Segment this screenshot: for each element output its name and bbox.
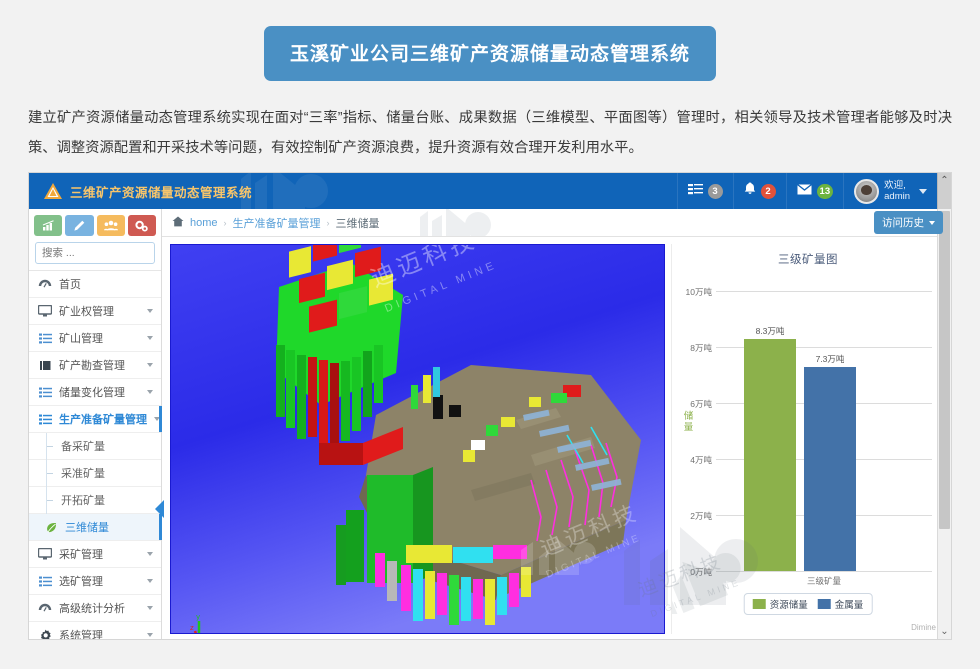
scroll-up-button[interactable]: ⌃ xyxy=(937,173,951,209)
sidebar-subitem-label: 备采矿量 xyxy=(61,438,105,454)
chart-plot-area: 10万吨 8万吨 6万吨 4万吨 2万吨 0万吨 储量 xyxy=(672,271,944,601)
avatar xyxy=(854,179,879,204)
sidebar-item-mine-management[interactable]: 矿山管理 xyxy=(29,325,161,352)
app-topbar: 三维矿产资源储量动态管理系统 xyxy=(29,173,951,209)
watermark-icon xyxy=(412,209,502,237)
sidebar-search xyxy=(29,240,161,270)
sidebar-submenu: 备采矿量 采准矿量 开拓矿量 三维储量 xyxy=(29,433,161,541)
chart-watermark: Dimine xyxy=(911,623,936,632)
breadcrumb-current: 三维储量 xyxy=(336,215,380,231)
app-body: 首页 矿业权管理 矿山管理 xyxy=(29,209,951,640)
list-icon xyxy=(38,412,52,426)
vertical-scrollbar[interactable]: ⌄ xyxy=(937,209,951,639)
sidebar-item-label: 系统管理 xyxy=(59,627,140,640)
gear-icon xyxy=(38,628,52,640)
sidebar-item-label: 选矿管理 xyxy=(59,573,140,589)
user-greeting: 欢迎, xyxy=(884,180,910,191)
page-description: 建立矿产资源储量动态管理系统实现在面对“三率”指标、储量台账、成果数据（三维模型… xyxy=(28,103,952,163)
y-tick-label: 10万吨 xyxy=(672,286,712,298)
sidebar: 首页 矿业权管理 矿山管理 xyxy=(29,209,162,640)
main-content: home › 生产准备矿量管理 › 三维储量 访问历史 xyxy=(162,209,951,640)
y-tick-label: 8万吨 xyxy=(672,342,712,354)
sidebar-item-reserve-change[interactable]: 储量变化管理 xyxy=(29,379,161,406)
sidebar-item-production-reserve[interactable]: 生产准备矿量管理 xyxy=(29,406,161,433)
scrollbar-thumb[interactable] xyxy=(939,211,950,529)
active-item-pointer-icon xyxy=(155,500,164,518)
chevron-down-icon xyxy=(147,606,153,610)
sidebar-item-label: 采矿管理 xyxy=(59,546,140,562)
sidebar-item-mining[interactable]: 采矿管理 xyxy=(29,541,161,568)
y-tick-label: 0万吨 xyxy=(672,566,712,578)
bar-value-label: 7.3万吨 xyxy=(795,353,865,365)
sidebar-item-label: 高级统计分析 xyxy=(59,600,140,616)
monitor-icon xyxy=(38,547,52,561)
legend-swatch-icon xyxy=(818,599,831,609)
monitor-icon xyxy=(38,304,52,318)
search-input[interactable] xyxy=(35,242,155,264)
logo-icon xyxy=(43,182,63,200)
sidebar-menu: 首页 矿业权管理 矿山管理 xyxy=(29,270,161,640)
sidebar-subitem-beicai[interactable]: 备采矿量 xyxy=(29,433,161,460)
y-tick-label: 2万吨 xyxy=(672,510,712,522)
dashboard-icon xyxy=(38,277,52,291)
application-window: 三维矿产资源储量动态管理系统 xyxy=(28,172,952,640)
page-header: 玉溪矿业公司三维矿产资源储量动态管理系统 xyxy=(0,0,980,81)
edit-button[interactable] xyxy=(65,215,93,236)
sidebar-subitem-label: 开拓矿量 xyxy=(61,492,105,508)
notifications-badge: 2 xyxy=(761,184,776,199)
sidebar-item-advanced-statistics[interactable]: 高级统计分析 xyxy=(29,595,161,622)
dash-icon xyxy=(46,446,53,447)
brand[interactable]: 三维矿产资源储量动态管理系统 xyxy=(29,182,252,201)
bar-value-label: 8.3万吨 xyxy=(735,325,805,337)
tasks-badge: 3 xyxy=(708,184,723,199)
legend-item-metal-quantity[interactable]: 金属量 xyxy=(818,597,864,611)
list-icon xyxy=(38,574,52,588)
sidebar-item-exploration[interactable]: 矿产勘查管理 xyxy=(29,352,161,379)
chevron-down-icon xyxy=(147,390,153,394)
breadcrumb-separator: › xyxy=(224,218,227,228)
three-d-model-viewport[interactable]: 迪迈科技 DIGITAL MINE 迪迈科技 DIGITAL MINE y x … xyxy=(170,244,665,634)
sidebar-item-label: 矿业权管理 xyxy=(59,303,140,319)
legend-label: 金属量 xyxy=(835,597,864,611)
notifications-menu[interactable]: 2 xyxy=(733,173,786,209)
sidebar-item-beneficiation[interactable]: 选矿管理 xyxy=(29,568,161,595)
content-panes: 迪迈科技 DIGITAL MINE 迪迈科技 DIGITAL MINE y x … xyxy=(162,237,951,640)
bell-icon xyxy=(744,182,756,200)
dashboard-icon xyxy=(38,601,52,615)
x-axis-label: 三级矿量 xyxy=(716,575,932,587)
dash-icon xyxy=(46,473,53,474)
breadcrumb-home[interactable]: home xyxy=(190,217,218,229)
breadcrumb-separator: › xyxy=(327,218,330,228)
sidebar-item-label: 储量变化管理 xyxy=(59,384,140,400)
user-name: admin xyxy=(884,191,910,202)
tasks-icon xyxy=(688,182,703,200)
dash-icon xyxy=(46,500,53,501)
chevron-down-icon xyxy=(154,417,160,421)
legend-item-resource-reserve[interactable]: 资源储量 xyxy=(753,597,808,611)
legend-swatch-icon xyxy=(753,599,766,609)
chevron-down-icon xyxy=(147,579,153,583)
leaf-icon xyxy=(46,522,57,533)
tasks-menu[interactable]: 3 xyxy=(677,173,733,209)
messages-menu[interactable]: 13 xyxy=(786,173,844,209)
chevron-down-icon xyxy=(147,336,153,340)
breadcrumb-parent[interactable]: 生产准备矿量管理 xyxy=(233,215,321,231)
chart-legend: 资源储量 金属量 xyxy=(744,593,873,615)
messages-badge: 13 xyxy=(817,184,834,199)
sidebar-subitem-3d-reserve[interactable]: 三维储量 xyxy=(29,514,161,541)
envelope-icon xyxy=(797,182,812,200)
y-tick-label: 4万吨 xyxy=(672,454,712,466)
visit-history-label: 访问历史 xyxy=(882,215,924,230)
sidebar-subitem-caizhun[interactable]: 采准矿量 xyxy=(29,460,161,487)
reserve-chart-panel: 三级矿量图 10万吨 8万吨 6万吨 4万吨 2万吨 xyxy=(671,244,944,634)
bar-metal-quantity[interactable] xyxy=(804,367,856,571)
topbar-actions: 3 2 13 xyxy=(677,173,951,209)
sidebar-item-label: 矿山管理 xyxy=(59,330,140,346)
sidebar-item-home[interactable]: 首页 xyxy=(29,271,161,298)
legend-label: 资源储量 xyxy=(770,597,808,611)
sidebar-item-system[interactable]: 系统管理 xyxy=(29,622,161,640)
chevron-down-icon xyxy=(147,309,153,313)
chevron-down-icon xyxy=(929,221,935,225)
sidebar-quick-actions xyxy=(29,209,161,240)
settings-button[interactable] xyxy=(128,215,156,236)
chevron-down-icon xyxy=(147,552,153,556)
sidebar-item-label: 首页 xyxy=(59,276,153,292)
chart-title: 三级矿量图 xyxy=(672,244,944,267)
visit-history-button[interactable]: 访问历史 xyxy=(874,211,943,234)
chevron-down-icon xyxy=(919,189,927,194)
sidebar-subitem-kaituo[interactable]: 开拓矿量 xyxy=(29,487,161,514)
scroll-down-button[interactable]: ⌄ xyxy=(938,624,951,639)
list-icon xyxy=(38,385,52,399)
y-axis-label: 储量 xyxy=(682,411,696,433)
user-menu[interactable]: 欢迎, admin xyxy=(843,173,937,209)
chevron-down-icon xyxy=(147,363,153,367)
book-icon xyxy=(38,358,52,372)
brand-title: 三维矿产资源储量动态管理系统 xyxy=(70,182,252,201)
breadcrumb: home › 生产准备矿量管理 › 三维储量 xyxy=(172,215,380,231)
svg-text:y: y xyxy=(196,613,200,621)
home-icon[interactable] xyxy=(172,216,184,230)
sidebar-subitem-label: 采准矿量 xyxy=(61,465,105,481)
sidebar-item-label: 生产准备矿量管理 xyxy=(59,411,147,427)
sidebar-item-mining-rights[interactable]: 矿业权管理 xyxy=(29,298,161,325)
bar-resource-reserve[interactable] xyxy=(744,339,796,571)
sidebar-item-label: 矿产勘查管理 xyxy=(59,357,140,373)
y-tick-label: 6万吨 xyxy=(672,398,712,410)
sidebar-subitem-label: 三维储量 xyxy=(65,519,109,535)
page-title: 玉溪矿业公司三维矿产资源储量动态管理系统 xyxy=(264,26,716,81)
gridline xyxy=(716,571,932,572)
svg-text:z: z xyxy=(190,624,194,632)
breadcrumb-bar: home › 生产准备矿量管理 › 三维储量 访问历史 xyxy=(162,209,951,237)
list-icon xyxy=(38,331,52,345)
chart-button[interactable] xyxy=(34,215,62,236)
gridline xyxy=(716,291,932,292)
users-button[interactable] xyxy=(97,215,125,236)
chevron-down-icon xyxy=(147,633,153,637)
